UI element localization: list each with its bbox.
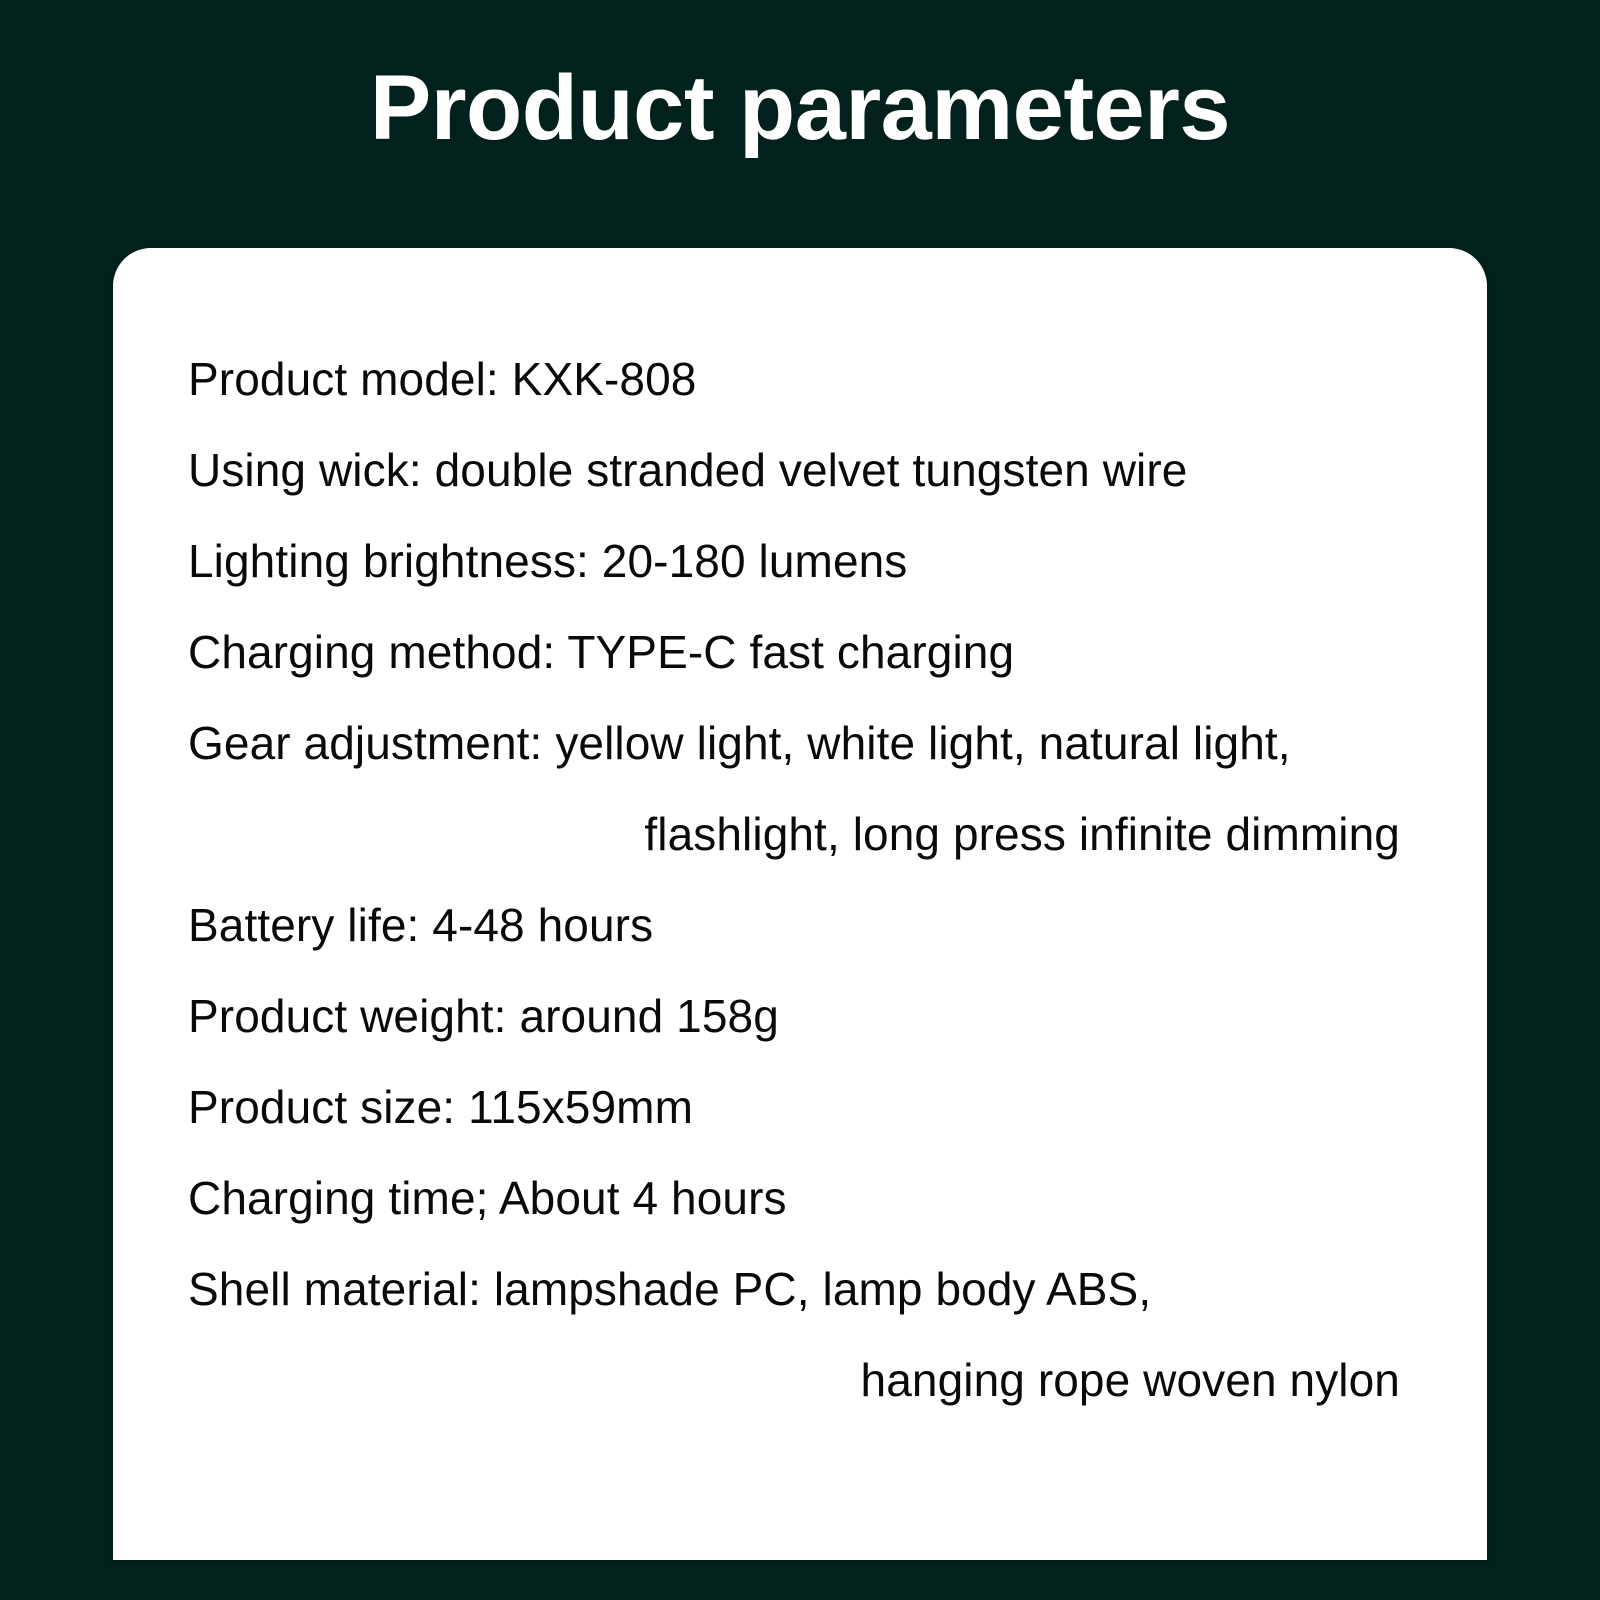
spec-line-primary: Product model: KXK-808 xyxy=(188,334,1400,425)
spec-line-primary: Lighting brightness: 20-180 lumens xyxy=(188,516,1400,607)
spec-row: Battery life: 4-48 hours xyxy=(188,880,1400,971)
spec-line-primary: Shell material: lampshade PC, lamp body … xyxy=(188,1244,1400,1335)
spec-line-continuation: hanging rope woven nylon xyxy=(188,1335,1400,1426)
spec-line-continuation: flashlight, long press infinite dimming xyxy=(188,789,1400,880)
spec-row: Charging time; About 4 hours xyxy=(188,1153,1400,1244)
specifications-list: Product model: KXK-808Using wick: double… xyxy=(188,334,1400,1426)
spec-row: Product size: 115x59mm xyxy=(188,1062,1400,1153)
spec-line-primary: Using wick: double stranded velvet tungs… xyxy=(188,425,1400,516)
specifications-card: Product model: KXK-808Using wick: double… xyxy=(113,248,1487,1560)
spec-line-primary: Charging time; About 4 hours xyxy=(188,1153,1400,1244)
spec-line-primary: Battery life: 4-48 hours xyxy=(188,880,1400,971)
spec-row: Lighting brightness: 20-180 lumens xyxy=(188,516,1400,607)
spec-row: Using wick: double stranded velvet tungs… xyxy=(188,425,1400,516)
spec-row: Charging method: TYPE-C fast charging xyxy=(188,607,1400,698)
spec-row: Gear adjustment: yellow light, white lig… xyxy=(188,698,1400,880)
spec-row: Product weight: around 158g xyxy=(188,971,1400,1062)
spec-line-primary: Product weight: around 158g xyxy=(188,971,1400,1062)
spec-line-primary: Charging method: TYPE-C fast charging xyxy=(188,607,1400,698)
spec-row: Shell material: lampshade PC, lamp body … xyxy=(188,1244,1400,1426)
spec-line-primary: Gear adjustment: yellow light, white lig… xyxy=(188,698,1400,789)
spec-line-primary: Product size: 115x59mm xyxy=(188,1062,1400,1153)
page-title: Product parameters xyxy=(0,56,1600,160)
product-parameters-page: Product parameters Product model: KXK-80… xyxy=(0,0,1600,1600)
spec-row: Product model: KXK-808 xyxy=(188,334,1400,425)
